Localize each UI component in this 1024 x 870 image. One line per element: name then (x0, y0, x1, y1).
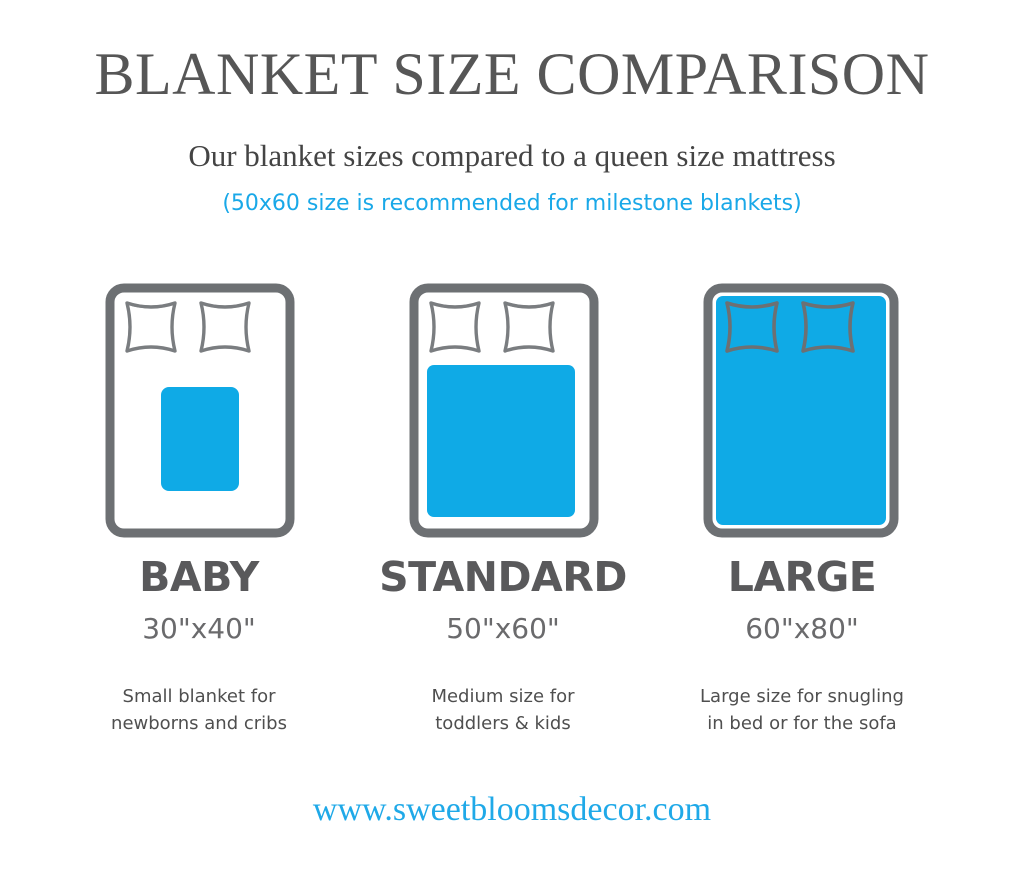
description-line-1: Large size for snugling (637, 683, 967, 710)
size-description-baby: Small blanket for newborns and cribs (34, 683, 364, 737)
size-dimensions-large: 60"x80" (637, 613, 967, 645)
size-dimensions-baby: 30"x40" (34, 613, 364, 645)
pillow-right-icon (505, 303, 553, 351)
pillow-left-icon (127, 303, 175, 351)
pillow-left-icon (431, 303, 479, 351)
size-name-standard: STANDARD (338, 555, 668, 599)
page-subtitle: Our blanket sizes compared to a queen si… (0, 138, 1024, 174)
bed-with-standard-blanket-icon (409, 283, 599, 538)
site-url[interactable]: www.sweetbloomsdecor.com (0, 790, 1024, 830)
bed-with-baby-blanket-icon (105, 283, 295, 538)
blanket-shape-standard (427, 365, 575, 517)
description-line-2: in bed or for the sofa (637, 710, 967, 737)
recommendation-note: (50x60 size is recommended for milestone… (0, 190, 1024, 218)
description-line-1: Small blanket for (34, 683, 364, 710)
pillow-right-icon (201, 303, 249, 351)
blanket-shape-large (716, 296, 886, 525)
size-description-standard: Medium size for toddlers & kids (338, 683, 668, 737)
blanket-size-comparison-infographic: BLANKET SIZE COMPARISON Our blanket size… (0, 0, 1024, 870)
size-description-large: Large size for snugling in bed or for th… (637, 683, 967, 737)
size-column-large: LARGE 60"x80" Large size for snugling in… (637, 283, 967, 783)
bed-with-large-blanket-icon (703, 283, 899, 538)
size-column-standard: STANDARD 50"x60" Medium size for toddler… (338, 283, 668, 783)
description-line-2: toddlers & kids (338, 710, 668, 737)
size-dimensions-standard: 50"x60" (338, 613, 668, 645)
size-column-baby: BABY 30"x40" Small blanket for newborns … (34, 283, 364, 783)
size-name-large: LARGE (637, 555, 967, 599)
size-name-baby: BABY (34, 555, 364, 599)
bed-illustration-standard (338, 283, 668, 538)
blanket-shape-baby (161, 387, 239, 491)
bed-illustration-baby (34, 283, 364, 538)
page-title: BLANKET SIZE COMPARISON (0, 42, 1024, 106)
description-line-1: Medium size for (338, 683, 668, 710)
description-line-2: newborns and cribs (34, 710, 364, 737)
size-columns: BABY 30"x40" Small blanket for newborns … (0, 283, 1024, 783)
bed-illustration-large (637, 283, 967, 538)
